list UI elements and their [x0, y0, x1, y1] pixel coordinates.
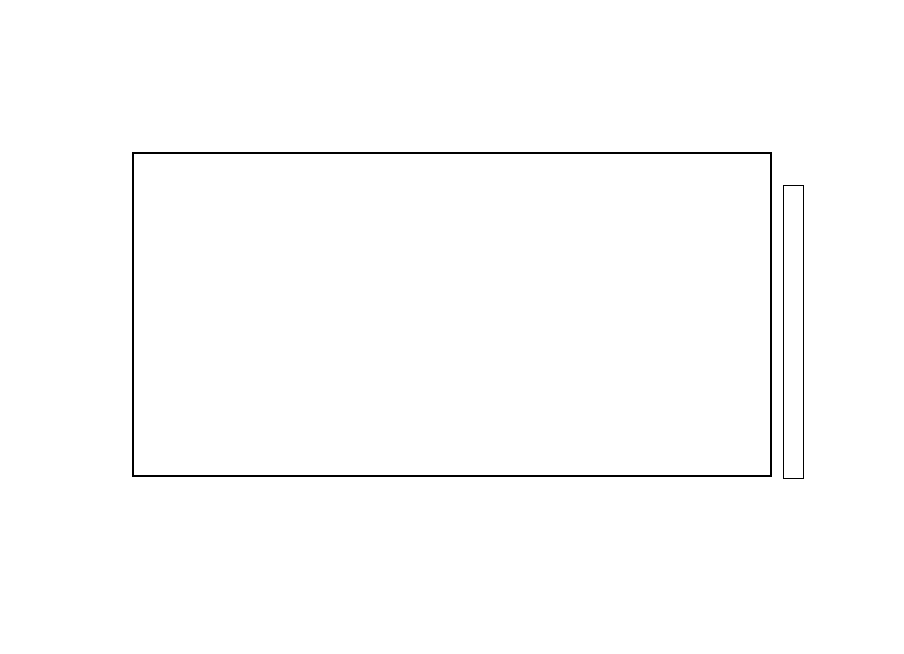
contour-field — [134, 154, 770, 475]
plot-area — [134, 154, 770, 475]
figure-canvas — [0, 0, 904, 654]
colorbar — [784, 186, 803, 478]
